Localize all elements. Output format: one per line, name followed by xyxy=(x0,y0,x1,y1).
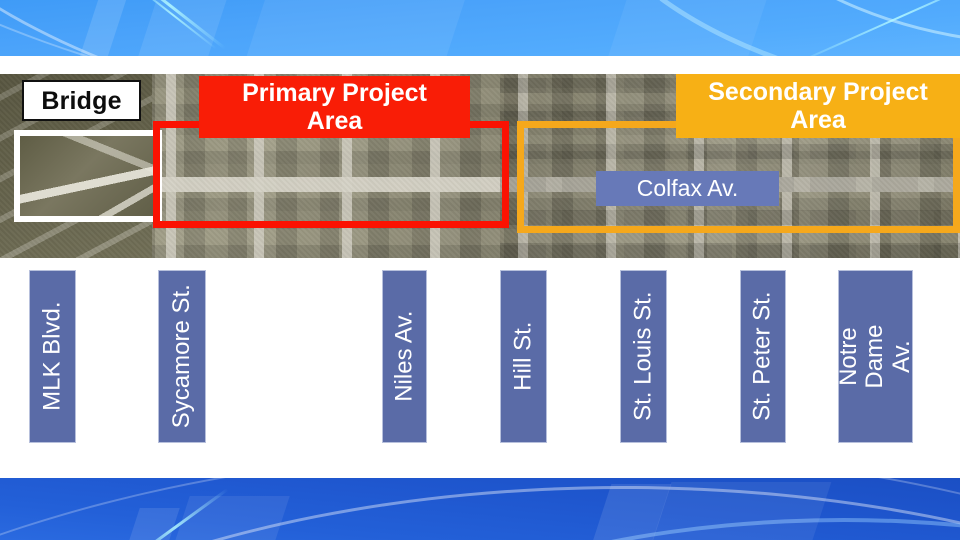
bottom-band-shard-4 xyxy=(649,482,832,540)
street-bar-label: MLK Blvd. xyxy=(39,302,65,411)
primary-project-area-label-text: Primary Project Area xyxy=(242,79,427,135)
secondary-label-line-1: Secondary Project xyxy=(708,78,928,106)
street-bar-label: Niles Av. xyxy=(391,311,417,402)
colfax-avenue-label-text: Colfax Av. xyxy=(637,176,738,202)
street-bar: St. Louis St. xyxy=(620,270,667,443)
bottom-band-shard-2 xyxy=(170,496,289,540)
street-bar: Sycamore St. xyxy=(158,270,206,443)
street-bar-label: Hill St. xyxy=(510,322,536,391)
top-band-arc-3 xyxy=(560,0,960,56)
primary-project-area-label: Primary Project Area xyxy=(199,76,470,138)
bridge-inset-photo xyxy=(14,130,162,222)
street-bar: Hill St. xyxy=(500,270,547,443)
bottom-band-arc-1 xyxy=(0,486,960,540)
street-bar: MLK Blvd. xyxy=(29,270,76,443)
street-bar-label: St. Louis St. xyxy=(630,292,656,421)
top-band-shard-4 xyxy=(601,0,780,56)
bottom-band-shard-3 xyxy=(589,484,672,540)
colfax-avenue-label: Colfax Av. xyxy=(596,171,779,206)
top-band-shard-3 xyxy=(239,0,481,56)
secondary-project-area-label: Secondary Project Area xyxy=(676,74,960,138)
bridge-label-text: Bridge xyxy=(41,87,121,115)
top-band-arc-4 xyxy=(700,0,960,46)
bottom-band-arc-3 xyxy=(240,518,960,540)
top-blue-band xyxy=(0,0,960,56)
bottom-band-shard-1 xyxy=(120,508,179,540)
primary-label-line-1: Primary Project xyxy=(242,79,427,107)
bottom-blue-band xyxy=(0,478,960,540)
street-bar-label: Notre Dame Av. xyxy=(838,320,913,393)
graphic-canvas: Bridge Primary Project Area Secondary Pr… xyxy=(0,0,960,540)
secondary-project-area-label-text: Secondary Project Area xyxy=(708,78,928,134)
primary-label-line-2: Area xyxy=(307,107,363,135)
street-bar: Notre Dame Av. xyxy=(838,270,913,443)
street-bar: Niles Av. xyxy=(382,270,427,443)
top-band-streak-3 xyxy=(781,0,960,56)
top-band-streak-2 xyxy=(129,0,217,50)
top-band-shard-2 xyxy=(131,0,240,56)
top-band-arc-1 xyxy=(0,0,960,56)
top-band-shard-1 xyxy=(72,0,136,56)
bridge-inset-photo-image xyxy=(20,136,156,216)
bottom-band-streak-1 xyxy=(122,488,229,540)
street-bar: St. Peter St. xyxy=(740,270,786,443)
bottom-band-arc-2 xyxy=(0,478,960,540)
bridge-label: Bridge xyxy=(22,80,141,121)
secondary-label-line-2: Area xyxy=(790,106,846,134)
street-bar-label: Sycamore St. xyxy=(169,284,195,428)
top-band-arc-2 xyxy=(0,0,960,56)
street-bar-label: St. Peter St. xyxy=(750,292,776,421)
top-band-streak-1 xyxy=(114,0,226,50)
street-label-row: MLK Blvd.Sycamore St.Niles Av.Hill St.St… xyxy=(0,258,960,478)
